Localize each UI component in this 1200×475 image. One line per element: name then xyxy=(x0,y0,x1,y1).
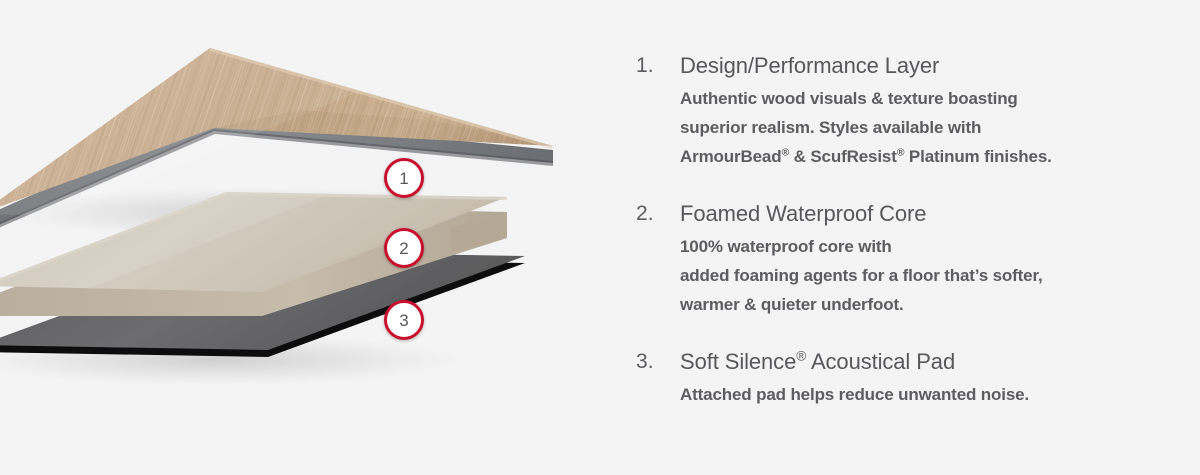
registered-mark-icon: ® xyxy=(796,349,806,364)
exploded-plank-graphic xyxy=(0,0,610,475)
acoustical-pad-text: Acoustical Pad xyxy=(806,349,955,374)
list-item-1-number: 1. xyxy=(636,50,680,171)
callout-badge-3[interactable]: 3 xyxy=(384,300,424,340)
list-item-soft-silence-acoustical-pad: 3. Soft Silence® Acoustical Pad Attached… xyxy=(636,346,1156,409)
callout-badge-3-number: 3 xyxy=(399,312,408,329)
registered-mark-icon: ® xyxy=(781,146,789,158)
list-item-3-number: 3. xyxy=(636,346,680,409)
list-item-1-description: Authentic wood visuals & texture boastin… xyxy=(680,84,1156,171)
callout-badge-2-number: 2 xyxy=(399,240,408,257)
list-item-2-title: Foamed Waterproof Core xyxy=(680,198,1156,230)
list-item-1-desc-line-2: superior realism. Styles available with xyxy=(680,113,1156,142)
callout-badge-1-number: 1 xyxy=(399,170,408,187)
platinum-finishes-text: Platinum finishes. xyxy=(904,147,1051,166)
callout-badge-1[interactable]: 1 xyxy=(384,158,424,198)
layer-description-list: 1. Design/Performance Layer Authentic wo… xyxy=(636,50,1156,409)
list-item-2-desc-line-2: added foaming agents for a floor that’s … xyxy=(680,261,1156,290)
list-item-2-desc-line-3: warmer & quieter underfoot. xyxy=(680,290,1156,319)
soft-silence-text: Soft Silence xyxy=(680,349,796,374)
ampersand-text: & ScufResist xyxy=(789,147,897,166)
layer-diagram-page: 1 2 3 1. Design/Performance Layer Authen… xyxy=(0,0,1200,475)
list-item-3-title: Soft Silence® Acoustical Pad xyxy=(680,346,1156,378)
list-item-2-description: 100% waterproof core with added foaming … xyxy=(680,232,1156,319)
list-item-design-performance-layer: 1. Design/Performance Layer Authentic wo… xyxy=(636,50,1156,171)
list-item-1-body: Design/Performance Layer Authentic wood … xyxy=(680,50,1156,171)
list-item-1-desc-line-1: Authentic wood visuals & texture boastin… xyxy=(680,84,1156,113)
list-item-foamed-waterproof-core: 2. Foamed Waterproof Core 100% waterproo… xyxy=(636,198,1156,319)
list-item-3-desc-line-1: Attached pad helps reduce unwanted noise… xyxy=(680,380,1156,409)
flooring-layers-illustration: 1 2 3 xyxy=(0,0,610,475)
armourbead-text: ArmourBead xyxy=(680,147,781,166)
list-item-2-desc-line-1: 100% waterproof core with xyxy=(680,232,1156,261)
list-item-3-description: Attached pad helps reduce unwanted noise… xyxy=(680,380,1156,409)
list-item-2-number: 2. xyxy=(636,198,680,319)
list-item-3-body: Soft Silence® Acoustical Pad Attached pa… xyxy=(680,346,1156,409)
list-item-2-body: Foamed Waterproof Core 100% waterproof c… xyxy=(680,198,1156,319)
callout-badge-2[interactable]: 2 xyxy=(384,228,424,268)
list-item-1-desc-line-3: ArmourBead® & ScufResist® Platinum finis… xyxy=(680,142,1156,171)
list-item-1-title: Design/Performance Layer xyxy=(680,50,1156,82)
